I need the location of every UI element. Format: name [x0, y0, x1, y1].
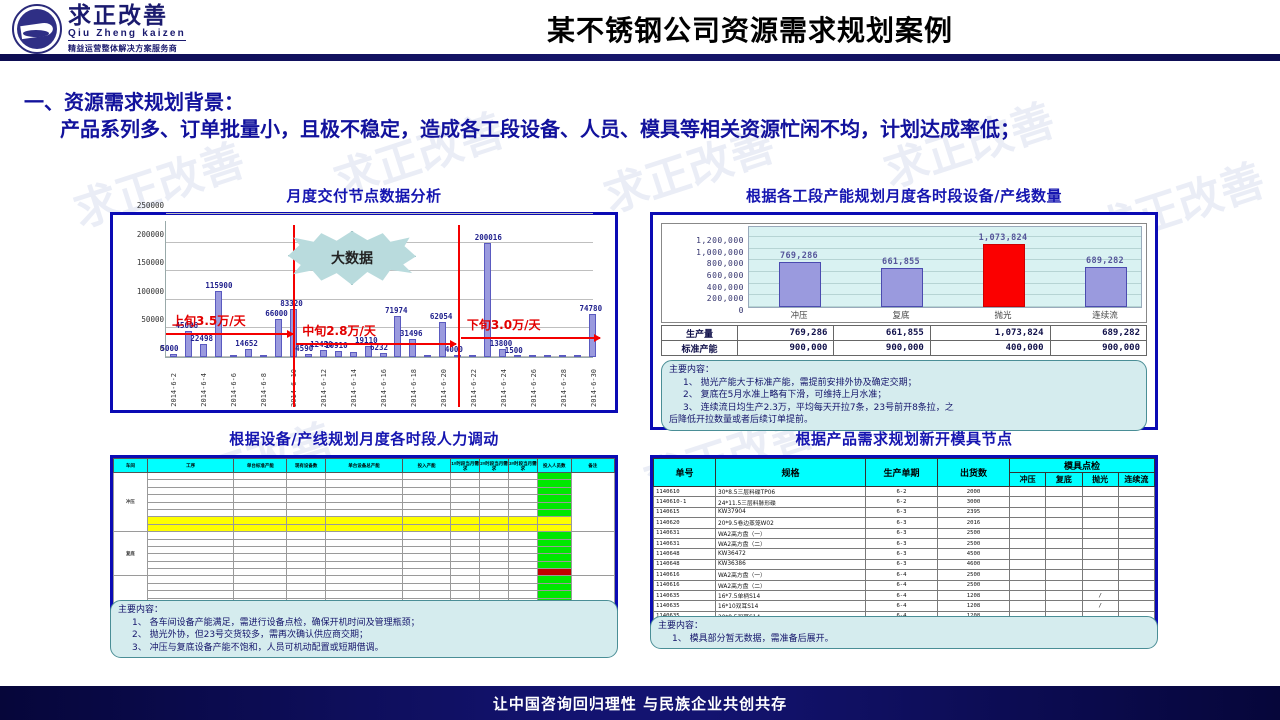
gridline: [749, 236, 1141, 237]
table-row: [114, 517, 615, 524]
table-row: 1140616WA2高方盘（一）6-42500: [654, 570, 1155, 580]
table-cell: [147, 502, 234, 509]
mould-check-cell: [1118, 590, 1154, 600]
brand-tagline: 精益运营整体解决方案服务商: [68, 43, 186, 54]
slide-root: 求正改善 求正改善 求正改善 求正改善 求正改善 求正改善 求正改善 求正改善 …: [0, 0, 1280, 720]
table-cell: [403, 576, 451, 583]
table-cell: 900,000: [738, 341, 834, 356]
table-cell: [403, 487, 451, 494]
table-cell: [147, 569, 234, 576]
table-cell: [234, 495, 287, 502]
mould-check-cell: [1118, 559, 1154, 569]
manpower-cell-highlight: [537, 517, 571, 524]
q4-frame: 单号规格生产单期出货数模具点检冲压复底抛光连续流 114061030*8.5三层…: [650, 455, 1158, 631]
column-header: 投入人员数: [537, 459, 571, 473]
q4-notes: 主要内容： 1、 模具部分暂无数据，需准备后展开。: [650, 616, 1158, 649]
table-cell: [147, 554, 234, 561]
table-cell: [287, 583, 326, 590]
mould-check-cell: [1010, 507, 1046, 517]
mould-check-cell: [1118, 601, 1154, 611]
table-cell: [403, 473, 451, 480]
bar-value-label: 74780: [580, 304, 603, 313]
table-row: [114, 487, 615, 494]
mould-check-cell: [1010, 590, 1046, 600]
table-cell: [234, 517, 287, 524]
q1-chart-frame: 0500001000001500002000002500005000450062…: [110, 212, 618, 413]
q2-note-line: 后降低开拉数量或者后续订单提前。: [669, 414, 1139, 427]
period-divider: [458, 225, 460, 407]
table-cell: [480, 473, 509, 480]
q3-note-line: 1、 各车间设备产能满足，需进行设备点检，确保开机时间及管理瓶颈；: [118, 617, 610, 630]
manpower-cell-highlight: [537, 561, 571, 568]
table-row: [114, 509, 615, 516]
manpower-cell-highlight: [537, 480, 571, 487]
table-cell: [325, 591, 402, 598]
mould-check-cell: [1046, 590, 1082, 600]
table-cell: [147, 524, 234, 531]
table-cell: 6-3: [866, 507, 938, 517]
table-row: [114, 591, 615, 598]
gridline: [749, 248, 1141, 249]
table-cell: [325, 480, 402, 487]
table-cell: KW36472: [716, 549, 866, 559]
table-cell: [480, 480, 509, 487]
quadrant-manpower-plan: 根据设备/产线规划月度各时段人力调动 车间工序单台标准产能现有设备数单台设备总产…: [110, 428, 618, 615]
mould-check-cell: [1118, 528, 1154, 538]
column-header: 生产单期: [866, 459, 938, 487]
q4-notes-title: 主要内容：: [658, 620, 1150, 633]
chart-bar: [335, 351, 342, 357]
column-header: 车间: [114, 459, 148, 473]
section-body: 产品系列多、订单批量小，且极不稳定，造成各工段设备、人员、模具等相关资源忙闲不均…: [24, 114, 1260, 144]
column-header: 现有设备数: [287, 459, 326, 473]
mould-check-cell: [1082, 538, 1118, 548]
table-cell: [234, 539, 287, 546]
table-cell: [234, 583, 287, 590]
q2-title: 根据各工段产能规划月度各时段设备/产线数量: [650, 185, 1158, 206]
table-cell: [508, 546, 537, 553]
logo-mark-icon: [12, 4, 62, 54]
table-cell: [451, 473, 480, 480]
chart-bar: [260, 355, 267, 357]
x-axis-tick: 2014-6-20: [440, 369, 448, 407]
x-axis-tick: 2014-6-6: [230, 373, 238, 407]
mould-check-cell: [1046, 497, 1082, 507]
mould-check-cell: [1010, 580, 1046, 590]
chart-bar: [514, 355, 521, 357]
y-axis-tick: 1,000,000: [662, 248, 744, 257]
table-cell: [508, 569, 537, 576]
table-cell: 3000: [938, 497, 1010, 507]
x-axis-tick: 2014-6-14: [350, 369, 358, 407]
table-cell: [325, 569, 402, 576]
table-row: [114, 480, 615, 487]
column-subheader: 冲压: [1010, 473, 1046, 487]
chart-bar: [170, 354, 177, 357]
table-cell: 1208: [938, 601, 1010, 611]
page-title: 某不锈钢公司资源需求规划案例: [300, 9, 1200, 49]
table-cell: [147, 532, 234, 539]
table-cell: 900,000: [1050, 341, 1146, 356]
bar-value-label: 83320: [280, 299, 303, 308]
mould-check-cell: /: [1082, 601, 1118, 611]
table-cell: [147, 583, 234, 590]
table-cell: [147, 546, 234, 553]
table-cell: 2395: [938, 507, 1010, 517]
bar-value-label: 1500: [505, 346, 523, 355]
mould-check-cell: [1046, 528, 1082, 538]
table-cell: [403, 546, 451, 553]
column-subheader: 抛光: [1082, 473, 1118, 487]
table-cell: 2500: [938, 570, 1010, 580]
y-axis-tick: 800,000: [662, 259, 744, 268]
y-axis-tick: 0: [662, 306, 744, 315]
table-cell: [234, 473, 287, 480]
bar-value-label: 22498: [190, 334, 213, 343]
bar-value-label: 689,282: [1075, 256, 1135, 266]
table-cell: [480, 539, 509, 546]
mould-check-cell: [1082, 497, 1118, 507]
table-cell: 400,000: [930, 341, 1050, 356]
column-header: 投入产能: [403, 459, 451, 473]
table-cell: 4500: [938, 549, 1010, 559]
mould-check-cell: [1010, 518, 1046, 528]
column-header: 2#时段当月需求: [480, 459, 509, 473]
mould-check-cell: [1046, 487, 1082, 497]
column-subheader: 复底: [1046, 473, 1082, 487]
x-axis-tick: 冲压: [764, 309, 834, 321]
chart-bar: [320, 350, 327, 357]
q4-title: 根据产品需求规划新开模具节点: [650, 428, 1158, 449]
table-cell: 900,000: [834, 341, 930, 356]
bar-value-label: 5000: [160, 344, 178, 353]
table-cell: [234, 524, 287, 531]
table-cell: [287, 524, 326, 531]
manpower-cell-highlight: [537, 583, 571, 590]
mould-check-cell: [1082, 549, 1118, 559]
table-row: 冲压: [114, 473, 615, 480]
manpower-cell-highlight: [537, 569, 571, 576]
mould-check-cell: [1118, 507, 1154, 517]
manpower-cell-highlight: [537, 495, 571, 502]
mould-check-cell: [1046, 538, 1082, 548]
remark-cell: [571, 532, 614, 576]
table-cell: 6-2: [866, 487, 938, 497]
y-axis-tick: 200000: [114, 230, 164, 239]
bar-value-label: 62054: [430, 312, 453, 321]
table-cell: [325, 473, 402, 480]
table-cell: [403, 480, 451, 487]
table-cell: 16*7.5单柄S14: [716, 590, 866, 600]
chart-bar: [529, 355, 536, 357]
mould-check-cell: [1010, 549, 1046, 559]
row-group-label: 复底: [114, 532, 148, 576]
table-cell: 6-3: [866, 549, 938, 559]
bar-value-label: 14652: [235, 339, 258, 348]
table-cell: [325, 502, 402, 509]
remark-cell: [571, 473, 614, 532]
table-cell: [480, 524, 509, 531]
table-cell: 2500: [938, 528, 1010, 538]
mould-check-cell: [1046, 601, 1082, 611]
x-axis-tick: 抛光: [968, 309, 1038, 321]
mould-check-cell: [1010, 601, 1046, 611]
table-cell: [325, 532, 402, 539]
table-row: 114063516*7.5单柄S146-41208/: [654, 590, 1155, 600]
table-cell: [508, 509, 537, 516]
table-cell: [234, 569, 287, 576]
chart-bar: [574, 355, 581, 357]
period-annotation: 中旬2.8万/天: [302, 322, 376, 339]
table-cell: [403, 509, 451, 516]
brand-name-py: Qiu Zheng kaizen: [68, 28, 186, 41]
period-annotation: 下旬3.0万/天: [467, 316, 541, 333]
bar-value-label: 661,855: [871, 257, 931, 267]
table-cell: [480, 502, 509, 509]
brand-logo: 求正改善 Qiu Zheng kaizen 精益运营整体解决方案服务商: [12, 2, 192, 56]
manpower-cell-highlight: [537, 502, 571, 509]
table-cell: 6-3: [866, 538, 938, 548]
table-cell: 1,073,824: [930, 326, 1050, 341]
chart-bar: [245, 349, 252, 357]
manpower-cell-highlight: [537, 509, 571, 516]
mould-check-cell: [1046, 570, 1082, 580]
table-cell: [480, 576, 509, 583]
x-axis-tick: 2014-6-18: [410, 369, 418, 407]
table-cell: 1140631: [654, 538, 716, 548]
table-row: 1140631WA2高方盘（一）6-32500: [654, 528, 1155, 538]
table-cell: [234, 576, 287, 583]
q2-frame: 0200,000400,000600,000800,0001,000,0001,…: [650, 212, 1158, 430]
q3-title: 根据设备/产线规划月度各时段人力调动: [110, 428, 618, 449]
y-axis-tick: 250000: [114, 201, 164, 210]
table-row: [114, 502, 615, 509]
y-axis-tick: 50000: [114, 315, 164, 324]
table-cell: 2500: [938, 538, 1010, 548]
q2-note-line: 2、 复底在5月水准上略有下滑，可维持上月水准；: [669, 389, 1139, 402]
table-cell: [508, 583, 537, 590]
table-cell: [403, 591, 451, 598]
chart-bar: [1085, 267, 1127, 307]
x-axis-tick: 2014-6-24: [500, 369, 508, 407]
mould-check-cell: [1010, 570, 1046, 580]
column-header: 单台设备总产能: [325, 459, 402, 473]
gridline: [166, 299, 593, 300]
header-divider: [0, 54, 1280, 61]
table-cell: [287, 473, 326, 480]
chart-bar: [350, 352, 357, 357]
table-cell: [234, 591, 287, 598]
table-cell: [234, 502, 287, 509]
y-axis-tick: 1,200,000: [662, 236, 744, 245]
table-cell: 2016: [938, 518, 1010, 528]
x-axis-tick: 复底: [866, 309, 936, 321]
table-cell: [508, 495, 537, 502]
table-cell: [287, 532, 326, 539]
table-cell: [508, 539, 537, 546]
chart-bar: [380, 353, 387, 357]
table-row: [114, 583, 615, 590]
chart-bar: [779, 262, 821, 307]
q2-note-line: 1、 抛光产能大于标准产能，需提前安排外协及确定交期；: [669, 377, 1139, 390]
table-cell: 16*10双耳S14: [716, 601, 866, 611]
x-axis-tick: 2014-6-22: [470, 369, 478, 407]
table-cell: [451, 569, 480, 576]
quadrant-mould-plan: 根据产品需求规划新开模具节点 单号规格生产单期出货数模具点检冲压复底抛光连续流 …: [650, 428, 1158, 631]
table-cell: 6-3: [866, 559, 938, 569]
table-cell: [325, 509, 402, 516]
table-cell: [287, 480, 326, 487]
mould-check-cell: [1118, 538, 1154, 548]
bar-value-label: 31496: [400, 329, 423, 338]
chart-bar: [424, 355, 431, 357]
x-axis-tick: 2014-6-30: [590, 369, 598, 407]
table-cell: 1140610: [654, 487, 716, 497]
y-axis-tick: 100000: [114, 287, 164, 296]
chart-bar: [469, 355, 476, 357]
chart-bar: [305, 354, 312, 357]
table-row: [114, 569, 615, 576]
chart-bar: [559, 355, 566, 357]
table-cell: [403, 554, 451, 561]
mould-check-cell: [1010, 497, 1046, 507]
x-axis-tick: 2014-6-4: [200, 373, 208, 407]
table-cell: [451, 532, 480, 539]
table-cell: [451, 487, 480, 494]
row-group-label: 冲压: [114, 473, 148, 532]
table-row: 复底: [114, 532, 615, 539]
table-cell: [325, 554, 402, 561]
table-row: 1140615KW379046-32395: [654, 507, 1155, 517]
table-cell: [325, 495, 402, 502]
table-cell: [403, 569, 451, 576]
table-cell: [287, 495, 326, 502]
column-header: 模具点检: [1010, 459, 1155, 473]
period-arrow: [296, 343, 456, 345]
table-cell: [325, 576, 402, 583]
table-cell: [287, 561, 326, 568]
column-header: 出货数: [938, 459, 1010, 487]
table-cell: [480, 591, 509, 598]
table-cell: 1140620: [654, 518, 716, 528]
table-cell: [508, 480, 537, 487]
table-cell: [451, 554, 480, 561]
table-cell: [234, 561, 287, 568]
chart-bar: [200, 344, 207, 357]
bar-value-label: 200016: [475, 233, 502, 242]
table-row: 抛光: [114, 576, 615, 583]
capacity-plot-area: [748, 226, 1142, 308]
table-cell: [508, 576, 537, 583]
table-cell: [508, 502, 537, 509]
table-cell: [325, 517, 402, 524]
column-header: 规格: [716, 459, 866, 487]
bar-value-label: 1,073,824: [973, 233, 1033, 243]
table-cell: 2500: [938, 580, 1010, 590]
q2-notes-title: 主要内容：: [669, 364, 1139, 377]
table-cell: [451, 502, 480, 509]
mould-check-cell: [1046, 507, 1082, 517]
mould-table: 单号规格生产单期出货数模具点检冲压复底抛光连续流 114061030*8.5三层…: [653, 458, 1155, 631]
x-axis-tick: 2014-6-2: [170, 373, 178, 407]
table-cell: [287, 569, 326, 576]
table-cell: [287, 576, 326, 583]
y-axis-tick: 150000: [114, 258, 164, 267]
table-cell: [147, 509, 234, 516]
table-cell: [403, 539, 451, 546]
column-header: 单台标准产能: [234, 459, 287, 473]
table-cell: [451, 517, 480, 524]
q4-note-line: 1、 模具部分暂无数据，需准备后展开。: [658, 633, 1150, 646]
capacity-table: 生产量769,286661,8551,073,824689,282标准产能900…: [661, 325, 1147, 356]
table-cell: 6-3: [866, 518, 938, 528]
y-axis-tick: 600,000: [662, 271, 744, 280]
row-label: 生产量: [662, 326, 738, 341]
table-cell: [451, 524, 480, 531]
manpower-cell-highlight: [537, 473, 571, 480]
bar-value-label: 769,286: [769, 251, 829, 261]
mould-check-cell: [1082, 559, 1118, 569]
mould-check-cell: [1046, 580, 1082, 590]
slide-header: 求正改善 Qiu Zheng kaizen 精益运营整体解决方案服务商 某不锈钢…: [0, 0, 1280, 58]
table-row: 114062020*9.5卷边蒸笼W026-32016: [654, 518, 1155, 528]
period-arrow: [461, 337, 600, 339]
table-cell: KW37904: [716, 507, 866, 517]
table-cell: 1140616: [654, 580, 716, 590]
table-cell: [403, 495, 451, 502]
manpower-spreadsheet: 车间工序单台标准产能现有设备数单台设备总产能投入产能1#时段当月需求2#时段当月…: [113, 458, 615, 615]
bar-value-label: 71974: [385, 306, 408, 315]
table-cell: 661,855: [834, 326, 930, 341]
table-cell: [480, 509, 509, 516]
y-axis-tick: 200,000: [662, 294, 744, 303]
table-row: [114, 546, 615, 553]
x-axis-tick: 连续流: [1070, 309, 1140, 321]
brand-name-cn: 求正改善: [68, 4, 186, 28]
manpower-cell-highlight: [537, 576, 571, 583]
mould-check-cell: [1118, 549, 1154, 559]
table-cell: [480, 583, 509, 590]
table-cell: 6-4: [866, 570, 938, 580]
manpower-cell-highlight: [537, 546, 571, 553]
mould-check-cell: [1046, 559, 1082, 569]
q3-note-line: 3、 冲压与复底设备产能不饱和，人员可机动配置或短期借调。: [118, 642, 610, 655]
chart-bar: [230, 355, 237, 357]
table-cell: 20*9.5卷边蒸笼W02: [716, 518, 866, 528]
mould-check-cell: [1082, 518, 1118, 528]
table-row: [114, 524, 615, 531]
table-cell: [287, 509, 326, 516]
mould-check-cell: [1118, 518, 1154, 528]
table-row: [114, 539, 615, 546]
chart-bar: [409, 339, 416, 357]
table-cell: [480, 554, 509, 561]
table-cell: [147, 517, 234, 524]
table-cell: 1140615: [654, 507, 716, 517]
column-header: 单号: [654, 459, 716, 487]
table-cell: [480, 517, 509, 524]
table-cell: [147, 591, 234, 598]
table-row: 1140648KW364726-34500: [654, 549, 1155, 559]
table-cell: 6-4: [866, 601, 938, 611]
table-cell: [234, 487, 287, 494]
table-cell: KW36386: [716, 559, 866, 569]
mould-check-cell: [1010, 528, 1046, 538]
q3-note-line: 2、 抛光外协，但23号交货较多，需再次确认供应商交期；: [118, 629, 610, 642]
table-cell: [287, 591, 326, 598]
table-cell: [234, 509, 287, 516]
table-cell: [403, 532, 451, 539]
